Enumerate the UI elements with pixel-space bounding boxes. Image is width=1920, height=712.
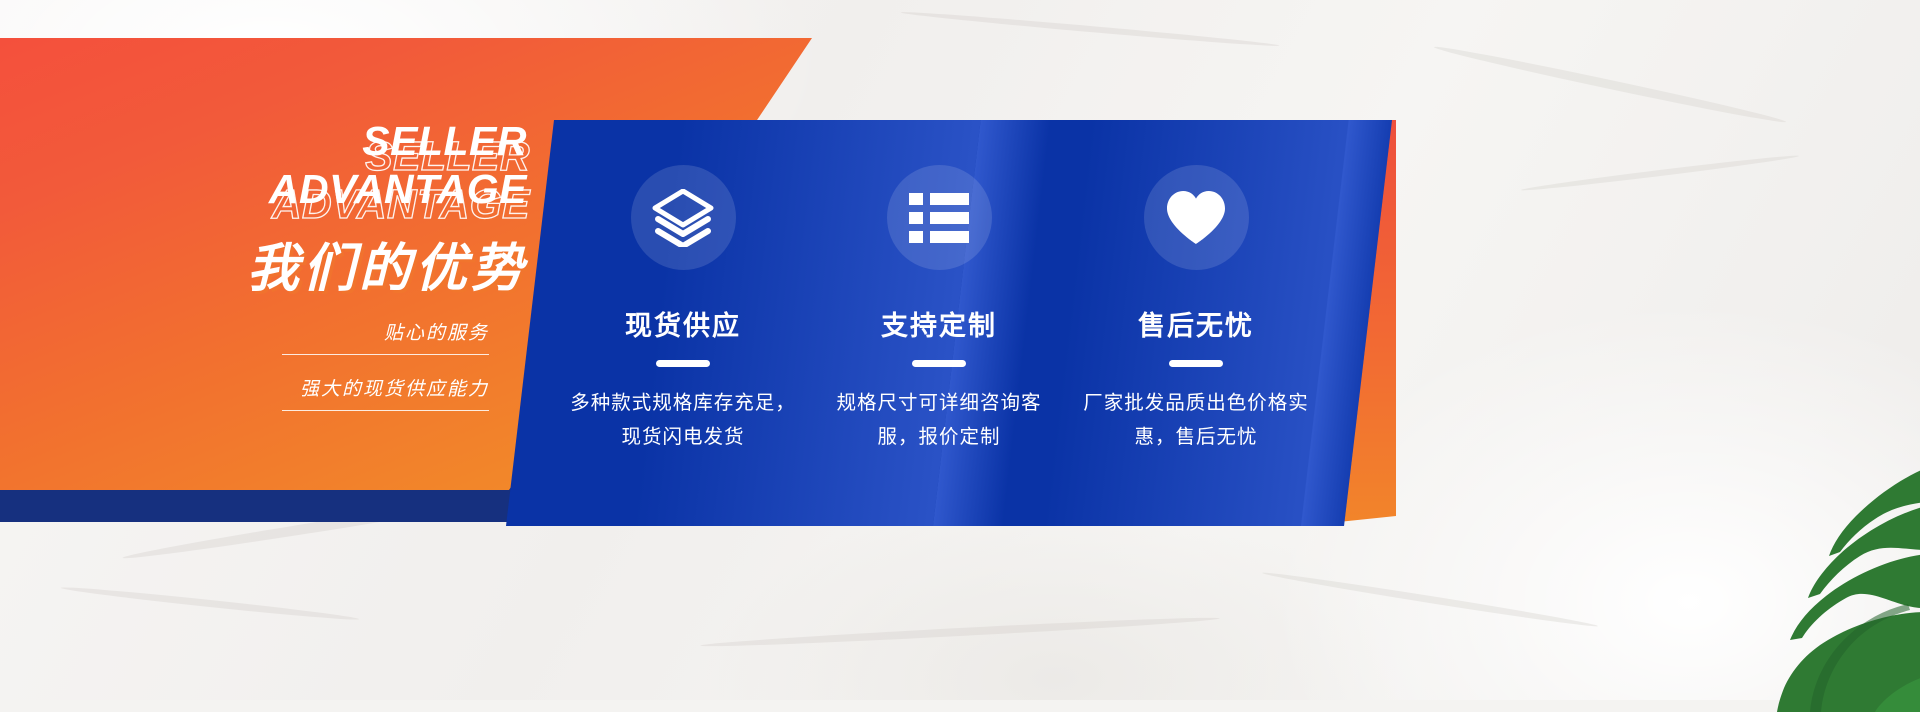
english-headline-line2-fill: ADVANTAGE: [269, 166, 527, 213]
monstera-leaf-icon: [1596, 462, 1920, 712]
icon-circle: [887, 165, 992, 270]
english-headline-line2: ADVANTAGE ADVANTAGE: [0, 166, 527, 214]
feature-card-list: 现货供应 多种款式规格库存充足，现货闪电发货 支持定制 规格尺寸可详细咨询客服，…: [506, 120, 1392, 526]
feature-card[interactable]: 支持定制 规格尺寸可详细咨询客服，报价定制: [824, 120, 1054, 454]
feature-card-title: 现货供应: [568, 304, 798, 343]
feature-card-body: 多种款式规格库存充足，现货闪电发货: [568, 386, 798, 454]
subtitle-item-1: 贴心的服务: [0, 318, 489, 354]
headline-block: SELLER SELLER ADVANTAGE ADVANTAGE 我们的优势 …: [0, 0, 545, 700]
feature-card[interactable]: 售后无忧 厂家批发品质出色价格实惠，售后无忧: [1081, 120, 1311, 454]
list-icon: [909, 192, 969, 244]
feature-card-body: 规格尺寸可详细咨询客服，报价定制: [824, 386, 1054, 454]
subtitle-divider-2: [282, 410, 489, 411]
layers-icon: [652, 189, 714, 247]
feature-card-title: 售后无忧: [1081, 304, 1311, 343]
subtitle-divider-1: [282, 354, 489, 355]
feature-card[interactable]: 现货供应 多种款式规格库存充足，现货闪电发货: [568, 120, 798, 454]
chinese-headline: 我们的优势: [0, 226, 527, 301]
feature-card-title: 支持定制: [824, 304, 1054, 343]
feature-card-divider: [912, 360, 966, 367]
subtitle-item-2: 强大的现货供应能力: [0, 374, 489, 410]
feature-card-body: 厂家批发品质出色价格实惠，售后无忧: [1081, 386, 1311, 454]
english-headline-line1-fill: SELLER: [362, 118, 527, 165]
subtitle-list: 贴心的服务 强大的现货供应能力: [0, 318, 489, 430]
icon-circle: [631, 165, 736, 270]
english-headline-line1: SELLER SELLER: [0, 118, 527, 166]
heart-icon: [1165, 190, 1227, 246]
feature-card-divider: [1169, 360, 1223, 367]
icon-circle: [1144, 165, 1249, 270]
english-headline: SELLER SELLER ADVANTAGE ADVANTAGE: [0, 118, 527, 214]
feature-card-divider: [656, 360, 710, 367]
